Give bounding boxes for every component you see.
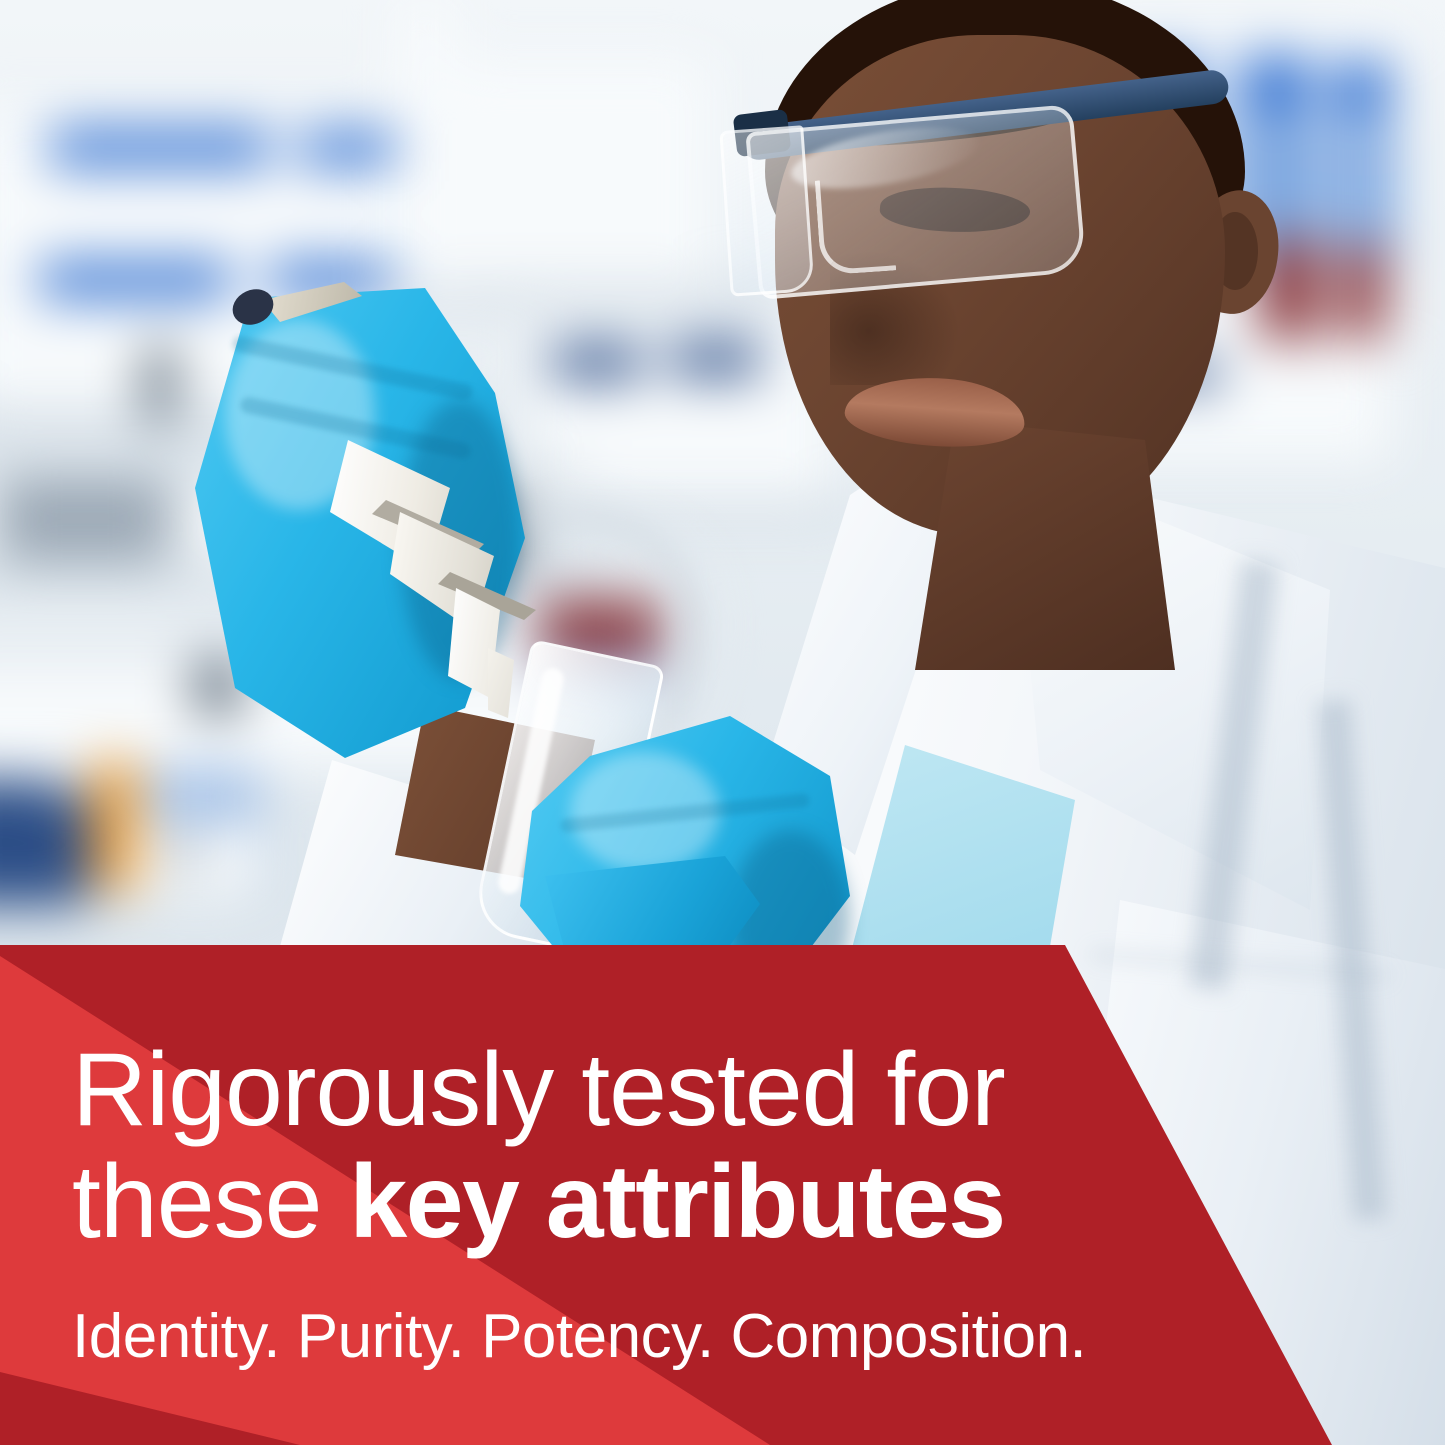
neck [915, 420, 1175, 670]
goggles-nose-bridge [815, 175, 896, 275]
headline-line-2-regular: these [72, 1144, 349, 1260]
banner-copy: Rigorously tested for these key attribut… [72, 1034, 1082, 1372]
headline-line-1-text: Rigorously tested for [72, 1032, 1005, 1148]
subhead-attributes: Identity. Purity. Potency. Composition. [72, 1302, 1082, 1372]
headline-line-2: these key attributes [72, 1146, 1082, 1258]
marketing-banner-image: Rigorously tested for these key attribut… [0, 0, 1445, 1445]
headline-line-1: Rigorously tested for [72, 1034, 1082, 1146]
headline-line-2-bold: key attributes [349, 1144, 1004, 1260]
goggles-side-shield [719, 125, 814, 296]
